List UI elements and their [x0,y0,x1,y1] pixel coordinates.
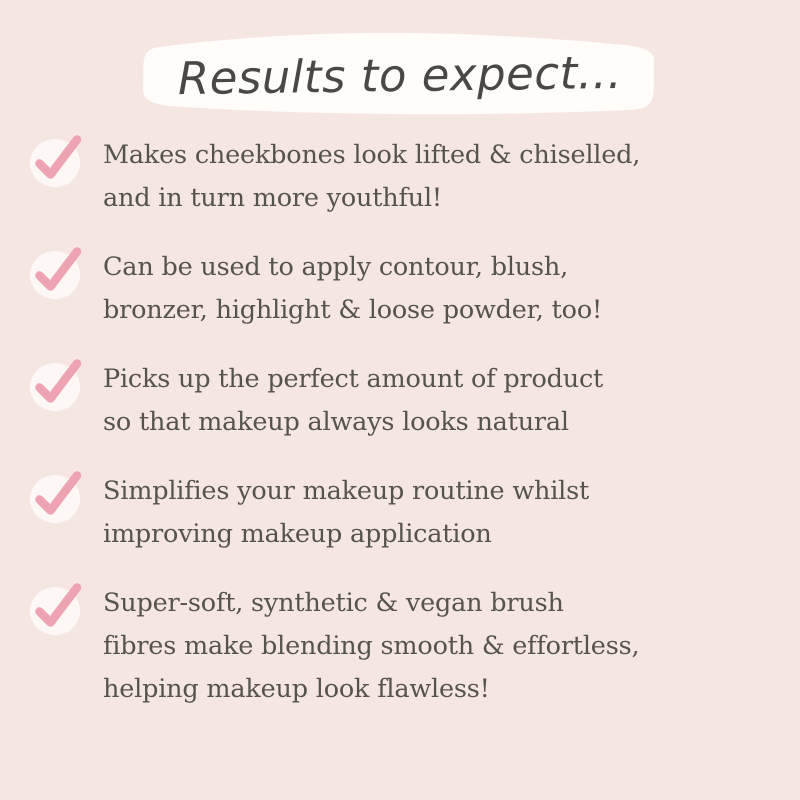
check-mark-icon [28,469,86,527]
page-title: Results to expect... [0,24,800,125]
list-item-line: bronzer, highlight & loose powder, too! [103,289,788,332]
list-item-line: and in turn more youthful! [103,177,788,220]
check-circle-icon [28,245,86,303]
list-item: Makes cheekbones look lifted & chiselled… [28,132,788,220]
list-item-text: Simplifies your makeup routine whilst im… [103,468,788,556]
check-mark-icon [28,581,86,639]
list-item-line: Can be used to apply contour, blush, [103,246,788,289]
benefits-list: Makes cheekbones look lifted & chiselled… [28,132,788,735]
results-to-expect-poster: Results to expect... Makes cheekbones lo… [0,0,800,800]
list-item-text: Super-soft, synthetic & vegan brush fibr… [103,580,788,711]
check-circle-icon [28,133,86,191]
check-circle-icon [28,357,86,415]
list-item: Super-soft, synthetic & vegan brush fibr… [28,580,788,711]
list-item: Can be used to apply contour, blush, bro… [28,244,788,332]
list-item-line: Makes cheekbones look lifted & chiselled… [103,134,788,177]
list-item-text: Picks up the perfect amount of product s… [103,356,788,444]
check-mark-icon [28,357,86,415]
check-mark-icon [28,133,86,191]
list-item-line: so that makeup always looks natural [103,401,788,444]
check-circle-icon [28,581,86,639]
check-mark-icon [28,245,86,303]
list-item-line: improving makeup application [103,513,788,556]
title-banner: Results to expect... [0,30,800,120]
check-circle-icon [28,469,86,527]
list-item-line: helping makeup look flawless! [103,668,788,711]
list-item-line: Super-soft, synthetic & vegan brush [103,582,788,625]
list-item-line: fibres make blending smooth & effortless… [103,625,788,668]
list-item-line: Simplifies your makeup routine whilst [103,470,788,513]
list-item-text: Can be used to apply contour, blush, bro… [103,244,788,332]
list-item: Picks up the perfect amount of product s… [28,356,788,444]
list-item-line: Picks up the perfect amount of product [103,358,788,401]
list-item: Simplifies your makeup routine whilst im… [28,468,788,556]
list-item-text: Makes cheekbones look lifted & chiselled… [103,132,788,220]
